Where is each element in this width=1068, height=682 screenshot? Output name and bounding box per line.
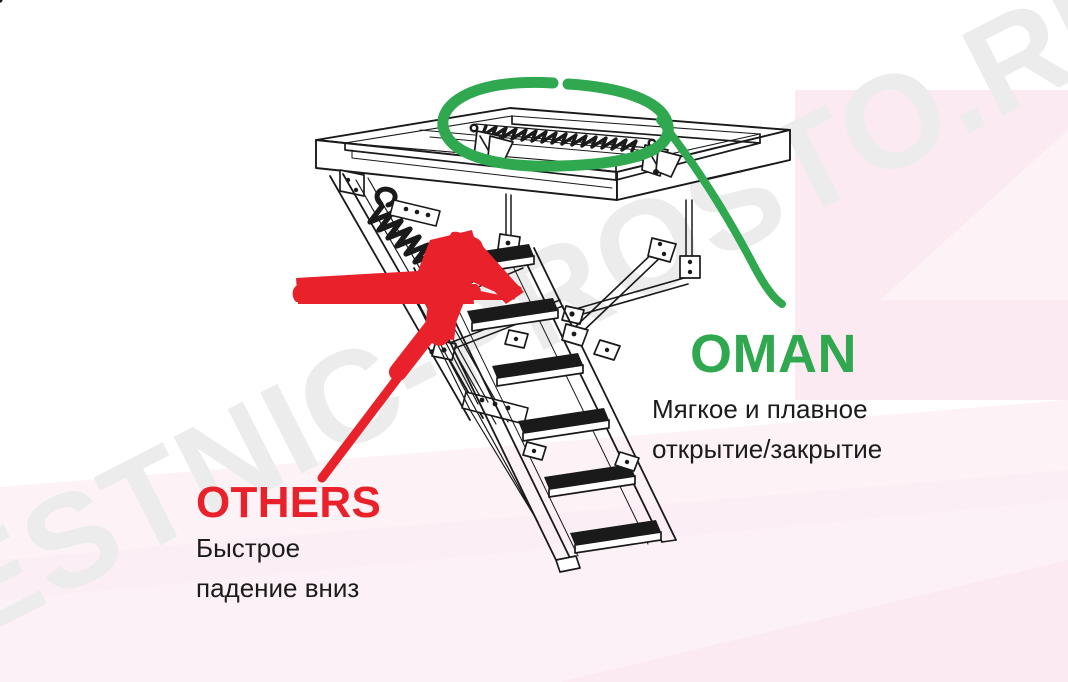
red-annotation-layer	[0, 0, 1068, 682]
oman-brand-label: OMAN	[690, 327, 857, 381]
oman-description-line-2: открытие/закрытие	[652, 436, 882, 462]
oman-description-line-1: Мягкое и плавное	[652, 396, 868, 422]
illustration-canvas: LESTNIC-PROSTO.RU	[0, 0, 1068, 682]
others-description-line-1: Быстрое	[196, 535, 300, 561]
others-brand-label: OTHERS	[196, 481, 381, 525]
red-arrow	[293, 230, 524, 478]
others-description-line-2: падение вниз	[196, 575, 359, 601]
